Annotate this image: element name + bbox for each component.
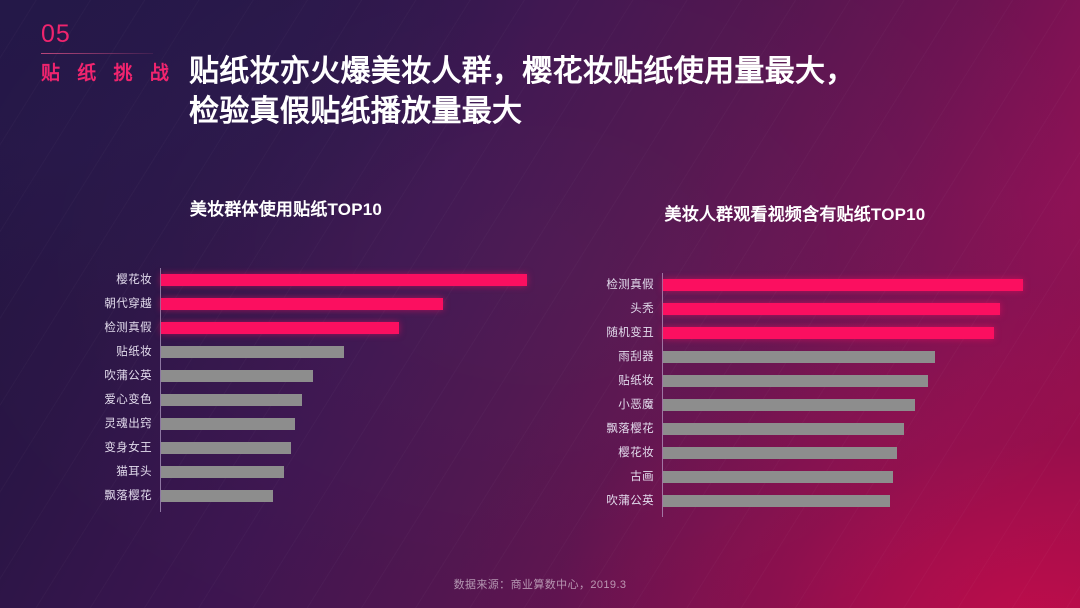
- chart-title: 美妆群体使用贴纸TOP10: [42, 200, 530, 220]
- bar-row: 朝代穿越: [60, 292, 530, 316]
- slide-header: 05 贴 纸 挑 战 贴纸妆亦火爆美妆人群，樱花妆贴纸使用量最大， 检验真假贴纸…: [0, 0, 1080, 150]
- bar-category-label: 飘落樱花: [60, 484, 152, 508]
- page-title: 贴纸妆亦火爆美妆人群，樱花妆贴纸使用量最大， 检验真假贴纸播放量最大: [189, 52, 1009, 132]
- bar: [161, 418, 295, 430]
- bar-category-label: 爱心变色: [60, 388, 152, 412]
- bar: [663, 495, 890, 507]
- bar-category-label: 头秃: [560, 297, 654, 321]
- bar-row: 变身女王: [60, 436, 530, 460]
- bar-highlight: [161, 298, 443, 310]
- bar: [663, 351, 935, 363]
- bar-row: 检测真假: [560, 273, 1030, 297]
- bar-row: 猫耳头: [60, 460, 530, 484]
- data-source-note: 数据来源：商业算数中心，2019.3: [0, 576, 1080, 592]
- bar-highlight: [663, 303, 1000, 315]
- bar-row: 小恶魔: [560, 393, 1030, 417]
- bar-row: 随机变丑: [560, 321, 1030, 345]
- bar-category-label: 吹蒲公英: [560, 489, 654, 513]
- headline-line-1: 贴纸妆亦火爆美妆人群，樱花妆贴纸使用量最大，: [189, 52, 1009, 92]
- bar-category-label: 贴纸妆: [60, 340, 152, 364]
- bar-category-label: 小恶魔: [560, 393, 654, 417]
- bar-row: 雨刮器: [560, 345, 1030, 369]
- bar-category-label: 检测真假: [60, 316, 152, 340]
- chart-beauty-sticker-usage: 美妆群体使用贴纸TOP10 樱花妆朝代穿越检测真假贴纸妆吹蒲公英爱心变色灵魂出窍…: [60, 200, 530, 530]
- bar-highlight: [161, 322, 399, 334]
- chart-beauty-video-sticker-views: 美妆人群观看视频含有贴纸TOP10 检测真假头秃随机变丑雨刮器贴纸妆小恶魔飘落樱…: [560, 205, 1030, 535]
- bar-category-label: 樱花妆: [560, 441, 654, 465]
- bar-row: 贴纸妆: [560, 369, 1030, 393]
- bar-row: 吹蒲公英: [60, 364, 530, 388]
- plot-area: 检测真假头秃随机变丑雨刮器贴纸妆小恶魔飘落樱花樱花妆古画吹蒲公英: [560, 273, 1030, 519]
- bar-category-label: 随机变丑: [560, 321, 654, 345]
- bar-rows: 樱花妆朝代穿越检测真假贴纸妆吹蒲公英爱心变色灵魂出窍变身女王猫耳头飘落樱花: [60, 268, 530, 508]
- section-number: 05: [41, 22, 171, 47]
- bar-category-label: 雨刮器: [560, 345, 654, 369]
- bar-rows: 检测真假头秃随机变丑雨刮器贴纸妆小恶魔飘落樱花樱花妆古画吹蒲公英: [560, 273, 1030, 513]
- bar-row: 头秃: [560, 297, 1030, 321]
- bar-row: 古画: [560, 465, 1030, 489]
- bar-row: 检测真假: [60, 316, 530, 340]
- bar: [161, 466, 284, 478]
- bar: [663, 471, 893, 483]
- bar-category-label: 吹蒲公英: [60, 364, 152, 388]
- headline-line-2: 检验真假贴纸播放量最大: [189, 92, 1009, 132]
- bar-category-label: 检测真假: [560, 273, 654, 297]
- bar-category-label: 飘落樱花: [560, 417, 654, 441]
- bar-row: 灵魂出窍: [60, 412, 530, 436]
- bar-category-label: 灵魂出窍: [60, 412, 152, 436]
- section-name: 贴 纸 挑 战: [41, 64, 171, 85]
- bar-highlight: [663, 279, 1023, 291]
- bar-category-label: 猫耳头: [60, 460, 152, 484]
- bar: [663, 447, 897, 459]
- bar-category-label: 变身女王: [60, 436, 152, 460]
- bar-row: 爱心变色: [60, 388, 530, 412]
- bar: [161, 370, 313, 382]
- chart-title: 美妆人群观看视频含有贴纸TOP10: [560, 205, 1030, 225]
- bar: [663, 423, 904, 435]
- bar: [161, 394, 302, 406]
- bar-category-label: 朝代穿越: [60, 292, 152, 316]
- bar: [663, 375, 928, 387]
- slide-canvas: 05 贴 纸 挑 战 贴纸妆亦火爆美妆人群，樱花妆贴纸使用量最大， 检验真假贴纸…: [0, 0, 1080, 608]
- bar: [663, 399, 915, 411]
- bar-category-label: 古画: [560, 465, 654, 489]
- bar: [161, 442, 291, 454]
- bar-highlight: [663, 327, 994, 339]
- bar-row: 飘落樱花: [60, 484, 530, 508]
- bar-row: 吹蒲公英: [560, 489, 1030, 513]
- bar-row: 飘落樱花: [560, 417, 1030, 441]
- bar: [161, 490, 273, 502]
- bar-category-label: 樱花妆: [60, 268, 152, 292]
- bar-highlight: [161, 274, 527, 286]
- plot-area: 樱花妆朝代穿越检测真假贴纸妆吹蒲公英爱心变色灵魂出窍变身女王猫耳头飘落樱花: [60, 268, 530, 514]
- section-marker: 05 贴 纸 挑 战: [41, 22, 171, 85]
- bar: [161, 346, 344, 358]
- bar-row: 贴纸妆: [60, 340, 530, 364]
- section-divider-rule: [41, 53, 153, 54]
- bar-row: 樱花妆: [560, 441, 1030, 465]
- bar-row: 樱花妆: [60, 268, 530, 292]
- bar-category-label: 贴纸妆: [560, 369, 654, 393]
